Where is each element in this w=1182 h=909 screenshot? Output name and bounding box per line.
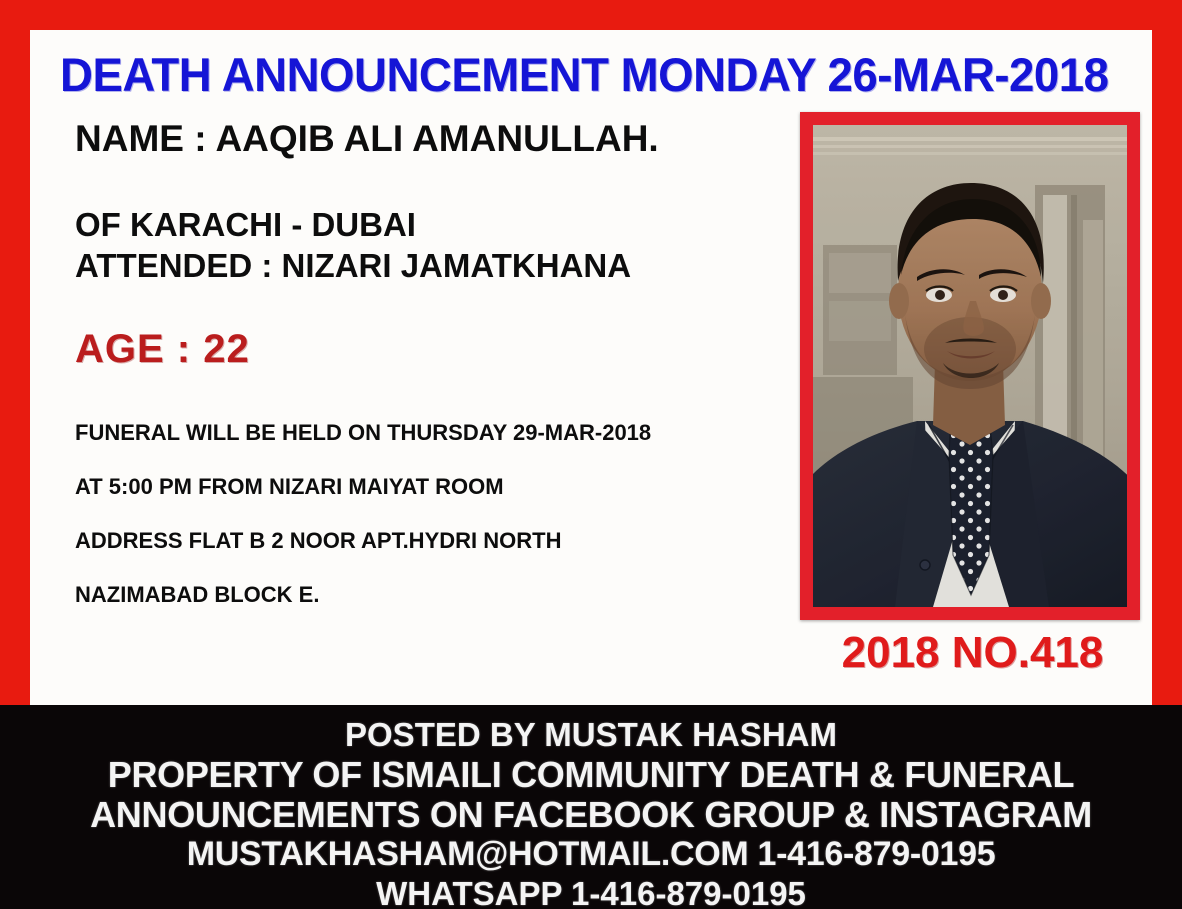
death-announcement-poster: DEATH ANNOUNCEMENT MONDAY 26-MAR-2018 NA… <box>0 0 1182 909</box>
footer-line-announcements: ANNOUNCEMENTS ON FACEBOOK GROUP & INSTAG… <box>0 795 1182 835</box>
detail-line-time-venue: AT 5:00 PM FROM NIZARI MAIYAT ROOM <box>75 474 805 500</box>
origin-line: OF KARACHI - DUBAI <box>75 204 805 245</box>
page-title: DEATH ANNOUNCEMENT MONDAY 26-MAR-2018 <box>60 50 1098 100</box>
funeral-details-block: FUNERAL WILL BE HELD ON THURSDAY 29-MAR-… <box>75 420 805 608</box>
detail-line-funeral-date: FUNERAL WILL BE HELD ON THURSDAY 29-MAR-… <box>75 420 805 446</box>
portrait-illustration <box>813 125 1127 607</box>
age-line: AGE : 22 <box>75 326 805 372</box>
deceased-name-line: NAME : AAQIB ALI AMANULLAH. <box>75 118 805 160</box>
portrait-photo <box>813 125 1127 607</box>
footer-line-whatsapp: WHATSAPP 1-416-879-0195 <box>0 874 1182 909</box>
announcement-card: DEATH ANNOUNCEMENT MONDAY 26-MAR-2018 NA… <box>30 30 1152 705</box>
attended-line: ATTENDED : NIZARI JAMATKHANA <box>75 245 805 286</box>
footer-line-property-of: PROPERTY OF ISMAILI COMMUNITY DEATH & FU… <box>0 755 1182 795</box>
portrait-photo-frame <box>800 112 1140 620</box>
footer-line-email-phone: MUSTAKHASHAM@HOTMAIL.COM 1-416-879-0195 <box>0 835 1182 874</box>
reference-number: 2018 NO.418 <box>800 628 1145 678</box>
origin-block: OF KARACHI - DUBAI ATTENDED : NIZARI JAM… <box>75 204 805 286</box>
footer-line-posted-by: POSTED BY MUSTAK HASHAM <box>0 715 1182 755</box>
detail-line-area: NAZIMABAD BLOCK E. <box>75 582 805 608</box>
detail-line-address: ADDRESS FLAT B 2 NOOR APT.HYDRI NORTH <box>75 528 805 554</box>
poster-footer: POSTED BY MUSTAK HASHAM PROPERTY OF ISMA… <box>0 705 1182 909</box>
announcement-text-column: NAME : AAQIB ALI AMANULLAH. OF KARACHI -… <box>75 118 805 608</box>
